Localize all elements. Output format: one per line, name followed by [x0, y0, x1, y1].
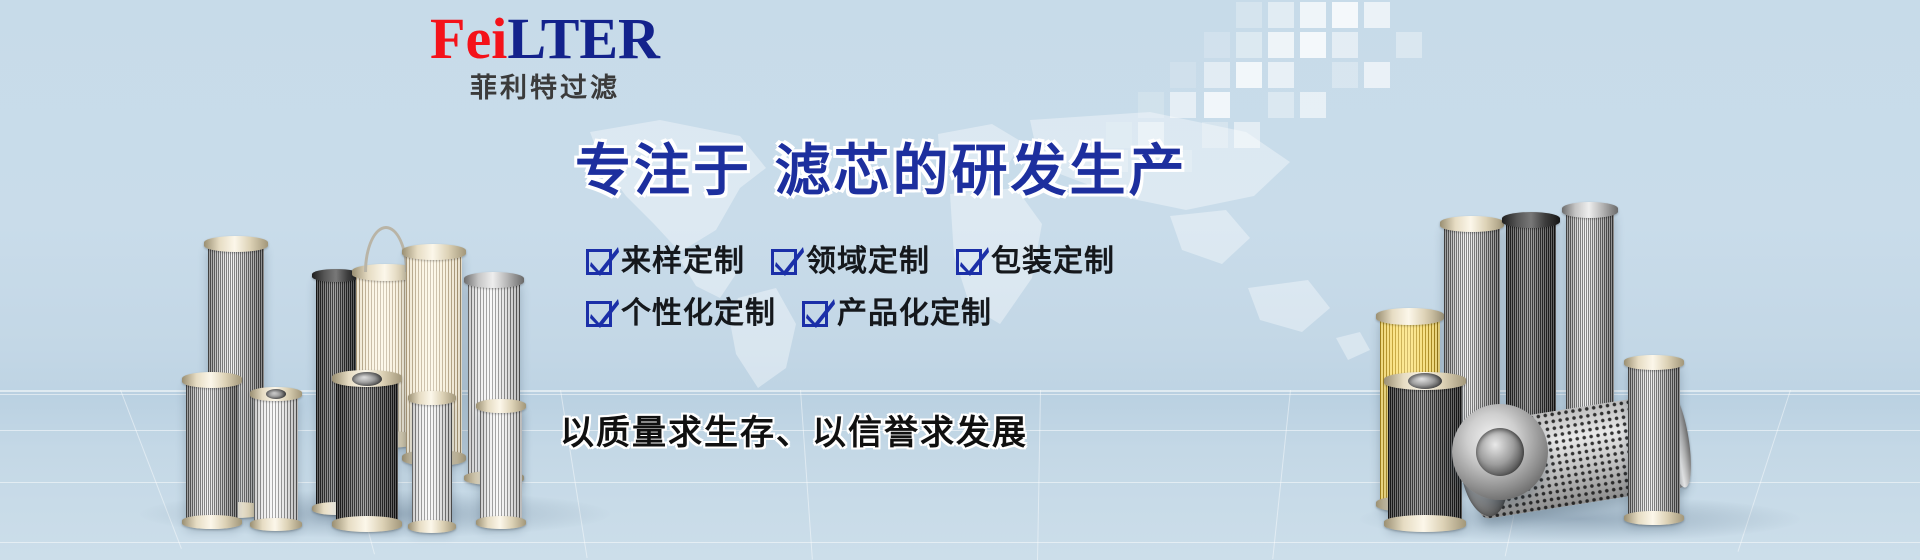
wordmark-prefix: Fei	[430, 6, 507, 71]
promo-banner: FeiLTER 菲利特过滤 专注于 滤芯的研发生产 来样定制	[0, 0, 1920, 560]
checkbox-checked-icon	[586, 248, 614, 276]
feature-item-gexinghua[interactable]: 个性化定制	[586, 297, 776, 331]
feature-item-laiyang[interactable]: 来样定制	[586, 245, 745, 279]
wordmark-suffix: LTER	[507, 6, 660, 71]
feature-label: 来样定制	[621, 245, 745, 279]
slogan: 以质量求生存、以信誉求发展	[560, 412, 1028, 454]
feature-item-chanpinhua[interactable]: 产品化定制	[802, 297, 992, 331]
brand-wordmark: FeiLTER	[395, 8, 695, 70]
feature-label: 产品化定制	[837, 297, 992, 331]
feature-label: 个性化定制	[621, 297, 776, 331]
feature-label: 领域定制	[806, 245, 930, 279]
brand-chinese-name: 菲利特过滤	[395, 72, 695, 106]
brand-logo[interactable]: FeiLTER 菲利特过滤	[395, 8, 695, 106]
feature-list: 来样定制 领域定制 包装定制	[586, 245, 1206, 349]
feature-label: 包装定制	[991, 245, 1115, 279]
feature-item-baozhuang[interactable]: 包装定制	[956, 245, 1115, 279]
checkbox-checked-icon	[586, 300, 614, 328]
feature-row: 来样定制 领域定制 包装定制	[586, 245, 1206, 279]
feature-item-lingyu[interactable]: 领域定制	[771, 245, 930, 279]
checkbox-checked-icon	[956, 248, 984, 276]
page-title: 专注于 滤芯的研发生产	[575, 140, 1188, 204]
feature-row: 个性化定制 产品化定制	[586, 297, 1206, 331]
checkbox-checked-icon	[802, 300, 830, 328]
checkbox-checked-icon	[771, 248, 799, 276]
